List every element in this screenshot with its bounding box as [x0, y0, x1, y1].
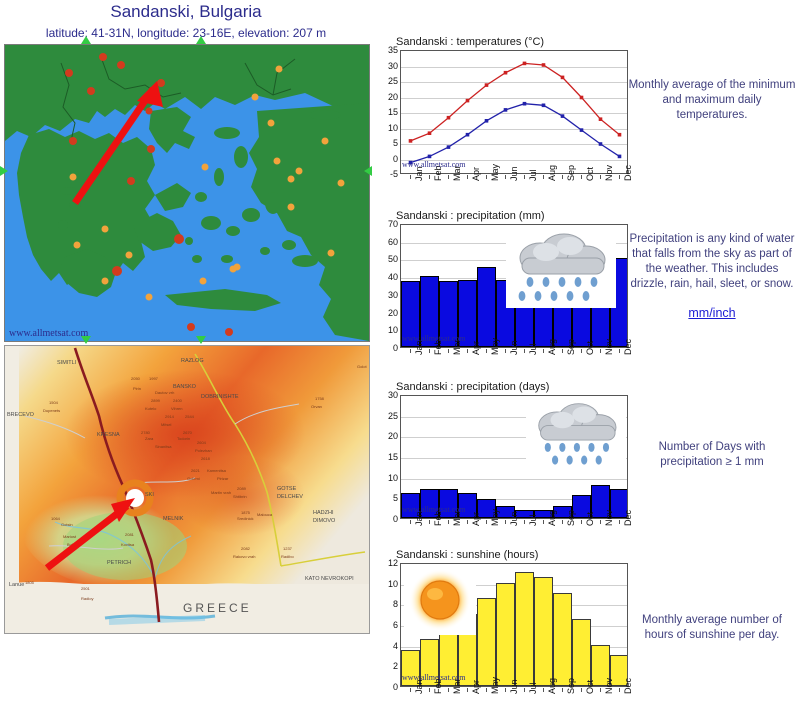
svg-text:2081: 2081 — [125, 532, 135, 537]
svg-text:Pirizar: Pirizar — [217, 476, 229, 481]
x-tick — [467, 688, 468, 692]
svg-text:Sredinick: Sredinick — [237, 516, 253, 521]
data-point — [580, 128, 584, 132]
y-tick-label: 15 — [378, 108, 398, 116]
description-temperatures: Monthly average of the minimum and maxim… — [628, 78, 796, 123]
x-tick — [543, 349, 544, 353]
x-tick — [486, 349, 487, 353]
x-tick-label: Jun — [509, 511, 519, 526]
y-tick-label: 2 — [378, 662, 398, 670]
x-tick-label: May — [490, 509, 500, 526]
series-line-maximum — [411, 63, 620, 140]
gridline — [401, 437, 627, 438]
y-tick-label: 30 — [378, 62, 398, 70]
x-tick — [467, 520, 468, 524]
svg-text:Polezhan: Polezhan — [195, 448, 212, 453]
bar — [553, 593, 572, 686]
x-tick — [562, 175, 563, 179]
x-tick — [486, 520, 487, 524]
x-tick — [486, 688, 487, 692]
chart-sunshine: Sandanski : sunshine (hours) 024681012 J… — [378, 549, 628, 723]
x-tick-label: Dec — [623, 678, 633, 694]
topographic-map[interactable]: SIMITLI RAZLOG BANSKO DOBRINISHTE KRESNA… — [4, 345, 370, 634]
x-tick — [543, 520, 544, 524]
y-tick-label: 5 — [378, 494, 398, 502]
y-tick-label: 20 — [378, 93, 398, 101]
svg-text:Rakovo vrah: Rakovo vrah — [233, 554, 255, 559]
svg-text:Mitsel: Mitsel — [161, 422, 172, 427]
x-tick — [467, 349, 468, 353]
x-tick — [619, 688, 620, 692]
x-tick-label: Aug — [547, 678, 557, 694]
climate-page: Sandanski, Bulgaria latitude: 41-31N, lo… — [0, 0, 800, 713]
svg-text:GOTSE: GOTSE — [277, 486, 297, 492]
x-tick-label: Nov — [604, 510, 614, 526]
gridline — [401, 479, 627, 480]
svg-text:Gotsin: Gotsin — [61, 522, 73, 527]
x-tick-label: Aug — [547, 339, 557, 355]
chart-watermark: www.allmetsat.com — [402, 673, 465, 722]
x-tick — [486, 175, 487, 179]
bar — [496, 280, 515, 347]
x-tick-label: Jun — [509, 166, 519, 181]
x-tick-label: Sep — [566, 339, 576, 355]
y-tick-label: 60 — [378, 238, 398, 246]
plot-area-temperatures — [400, 50, 628, 174]
svg-text:KRESNA: KRESNA — [97, 432, 120, 438]
svg-text:Kutelo: Kutelo — [145, 406, 157, 411]
bar — [515, 572, 534, 686]
nav-left-icon — [0, 166, 8, 176]
x-tick-label: Nov — [604, 165, 614, 181]
chart-watermark: www.allmetsat.com — [402, 160, 465, 209]
svg-text:2050: 2050 — [131, 376, 141, 381]
x-tick-label: Jul — [528, 343, 538, 355]
y-tick-label: 35 — [378, 46, 398, 54]
y-tick-label: 0 — [378, 344, 398, 352]
y-tick-label: 70 — [378, 220, 398, 228]
x-tick-label: Jul — [528, 514, 538, 526]
svg-text:DELCHEV: DELCHEV — [277, 494, 303, 500]
svg-text:Mariost: Mariost — [63, 534, 77, 539]
nav-up-icon — [81, 36, 91, 44]
svg-text:DIMOVO: DIMOVO — [313, 518, 336, 524]
x-tick — [467, 175, 468, 179]
x-tick — [600, 688, 601, 692]
y-tick-label: 25 — [378, 77, 398, 85]
svg-text:1875: 1875 — [241, 510, 251, 515]
svg-text:Vihren: Vihren — [171, 406, 183, 411]
x-tick — [562, 349, 563, 353]
y-tick-label: 10 — [378, 326, 398, 334]
map-nav-markers[interactable] — [0, 36, 372, 348]
description-precipitation-days: Number of Days with precipitation ≥ 1 mm — [628, 440, 796, 470]
x-tick — [524, 688, 525, 692]
y-tick-label: 10 — [378, 124, 398, 132]
svg-text:Golemi: Golemi — [187, 476, 200, 481]
x-tick-label: Nov — [604, 339, 614, 355]
data-point — [523, 62, 527, 66]
bar — [515, 294, 534, 347]
y-tick-label: 40 — [378, 273, 398, 281]
svg-text:1504: 1504 — [49, 400, 59, 405]
svg-text:2604: 2604 — [197, 440, 207, 445]
series-line-minimum — [411, 104, 620, 163]
nav-down-icon — [81, 336, 91, 344]
topographic-map-graphic: SIMITLI RAZLOG BANSKO DOBRINISHTE KRESNA… — [5, 346, 369, 633]
svg-text:Zara: Zara — [145, 436, 154, 441]
description-precipitation-text: Precipitation is any kind of water that … — [630, 233, 795, 290]
data-point — [428, 131, 432, 135]
svg-text:Malouca: Malouca — [257, 512, 273, 517]
data-point — [561, 114, 565, 118]
svg-text:GREECE: GREECE — [183, 601, 252, 615]
svg-text:Sinanitsa: Sinanitsa — [155, 444, 172, 449]
y-tick-label: 20 — [378, 432, 398, 440]
x-tick-label: Sep — [566, 678, 576, 694]
plot-area-precipitation-days — [400, 395, 628, 519]
svg-text:2544: 2544 — [185, 414, 195, 419]
y-tick-label: 50 — [378, 255, 398, 263]
x-tick — [581, 175, 582, 179]
x-tick — [600, 520, 601, 524]
data-point — [599, 117, 603, 121]
x-tick-label: Apr — [471, 167, 481, 181]
y-tick-label: 30 — [378, 391, 398, 399]
chart-watermark: www.allmetsat.com — [402, 334, 465, 383]
x-tick-label: Dec — [623, 510, 633, 526]
bar — [496, 583, 515, 686]
data-point — [523, 102, 527, 106]
svg-text:MELNIK: MELNIK — [163, 516, 184, 522]
data-point — [428, 155, 432, 159]
nav-down-icon — [196, 336, 206, 344]
y-tick-label: -5 — [378, 170, 398, 178]
svg-text:Todorin: Todorin — [177, 436, 190, 441]
bar — [477, 267, 496, 347]
x-tick — [505, 520, 506, 524]
svg-text:2899: 2899 — [151, 398, 161, 403]
plot-area-sunshine — [400, 563, 628, 687]
svg-text:RAZLOG: RAZLOG — [181, 358, 204, 364]
y-tick-label: 6 — [378, 621, 398, 629]
svg-text:Kovitsa: Kovitsa — [121, 542, 135, 547]
x-tick-label: Sep — [566, 165, 576, 181]
x-tick-label: Oct — [585, 512, 595, 526]
svg-text:2082: 2082 — [241, 546, 251, 551]
y-tick-label: 5 — [378, 139, 398, 147]
y-tick-label: 15 — [378, 453, 398, 461]
svg-text:SIMITLI: SIMITLI — [57, 360, 77, 366]
data-point — [485, 119, 489, 123]
chart-watermark: www.allmetsat.com — [402, 505, 465, 554]
chart-title-temperatures: Sandanski : temperatures (°C) — [396, 36, 628, 48]
svg-text:1997: 1997 — [149, 376, 159, 381]
data-point — [542, 63, 546, 67]
y-tick-label: 10 — [378, 474, 398, 482]
chart-title-precipitation-days: Sandanski : precipitation (days) — [396, 381, 628, 393]
svg-text:Orvan: Orvan — [311, 404, 322, 409]
x-tick-label: Oct — [585, 680, 595, 694]
y-tick-label: 30 — [378, 291, 398, 299]
data-point — [409, 139, 413, 143]
x-tick — [581, 520, 582, 524]
svg-text:Radioy: Radioy — [81, 596, 93, 601]
description-precipitation: Precipitation is any kind of water that … — [628, 232, 796, 321]
y-tick-label: 0 — [378, 515, 398, 523]
svg-text:2670: 2670 — [183, 430, 193, 435]
data-point — [447, 116, 451, 120]
y-tick-label: 8 — [378, 600, 398, 608]
svg-text:1758: 1758 — [315, 396, 325, 401]
svg-text:DOBRINISHTE: DOBRINISHTE — [201, 394, 239, 400]
x-tick-label: Apr — [471, 341, 481, 355]
svg-text:1064: 1064 — [51, 516, 61, 521]
x-tick — [619, 520, 620, 524]
y-tick-label: 4 — [378, 642, 398, 650]
chart-title-sunshine: Sandanski : sunshine (hours) — [396, 549, 628, 561]
svg-text:Martin vrah: Martin vrah — [211, 490, 231, 495]
chart-precipitation-days: Sandanski : precipitation (days) 0510152… — [378, 381, 628, 555]
data-point — [618, 155, 622, 159]
bar — [610, 258, 628, 347]
x-tick — [524, 520, 525, 524]
data-point — [447, 145, 451, 149]
data-point — [466, 133, 470, 137]
x-tick-label: Jun — [509, 679, 519, 694]
x-tick-label: Jul — [528, 169, 538, 181]
svg-text:Dupenets: Dupenets — [43, 408, 60, 413]
description-sunshine: Monthly average number of hours of sunsh… — [628, 613, 796, 643]
x-tick-label: May — [490, 338, 500, 355]
svg-text:PETRICH: PETRICH — [107, 560, 131, 566]
svg-text:2501: 2501 — [81, 586, 91, 591]
x-tick — [619, 175, 620, 179]
x-tick-label: Aug — [547, 510, 557, 526]
x-tick-label: Aug — [547, 165, 557, 181]
svg-text:Kamenitsa: Kamenitsa — [207, 468, 227, 473]
svg-text:BANSKO: BANSKO — [173, 384, 197, 390]
x-tick-label: Dec — [623, 339, 633, 355]
x-tick — [562, 520, 563, 524]
x-tick-label: Nov — [604, 678, 614, 694]
x-tick — [524, 175, 525, 179]
x-tick — [505, 688, 506, 692]
bar — [572, 619, 591, 686]
data-point — [542, 104, 546, 108]
chart-precipitation-mm: Sandanski : precipitation (mm) 010203040… — [378, 210, 628, 384]
y-tick-label: 12 — [378, 559, 398, 567]
svg-text:HADZHI: HADZHI — [313, 510, 334, 516]
svg-text:Radibo: Radibo — [281, 554, 294, 559]
svg-text:SKI: SKI — [145, 492, 154, 498]
gridline — [401, 417, 627, 418]
x-tick-label: Oct — [585, 167, 595, 181]
data-point — [485, 83, 489, 87]
x-tick — [562, 688, 563, 692]
x-tick — [581, 349, 582, 353]
x-tick-label: May — [490, 164, 500, 181]
bar — [591, 234, 610, 347]
x-tick-label: Oct — [585, 341, 595, 355]
x-tick — [600, 349, 601, 353]
nav-up-icon — [196, 36, 206, 44]
mm-inch-link[interactable]: mm/inch — [628, 306, 796, 321]
x-tick-label: May — [490, 677, 500, 694]
y-tick-label: 0 — [378, 155, 398, 163]
data-point — [580, 96, 584, 100]
x-tick — [524, 349, 525, 353]
x-tick-label: Dec — [623, 165, 633, 181]
svg-text:2780: 2780 — [141, 430, 151, 435]
x-tick-label: Apr — [471, 680, 481, 694]
svg-text:1805: 1805 — [25, 580, 35, 585]
plot-area-precipitation-mm — [400, 224, 628, 348]
svg-text:KATO NEVROKOPI: KATO NEVROKOPI — [305, 576, 354, 582]
chart-title-precipitation-mm: Sandanski : precipitation (mm) — [396, 210, 628, 222]
y-tick-label: 25 — [378, 412, 398, 420]
series-lines — [401, 51, 628, 174]
svg-text:1237: 1237 — [283, 546, 293, 551]
x-tick-label: Jun — [509, 340, 519, 355]
x-tick — [581, 688, 582, 692]
x-tick-label: Apr — [471, 512, 481, 526]
data-point — [504, 108, 508, 112]
data-point — [618, 133, 622, 137]
data-point — [599, 142, 603, 146]
svg-text:BRECEVO: BRECEVO — [7, 412, 35, 418]
x-tick-label: Jul — [528, 682, 538, 694]
svg-text:2618: 2618 — [201, 456, 211, 461]
svg-text:Golot: Golot — [357, 364, 367, 369]
gridline — [401, 458, 627, 459]
chart-temperatures: Sandanski : temperatures (°C) -505101520… — [378, 36, 628, 210]
x-tick — [600, 175, 601, 179]
svg-text:Lanue: Lanue — [9, 582, 24, 588]
svg-text:2914: 2914 — [165, 414, 175, 419]
svg-text:Pirin: Pirin — [133, 386, 141, 391]
svg-text:2400: 2400 — [173, 398, 183, 403]
bar — [477, 598, 496, 686]
x-tick — [505, 349, 506, 353]
x-tick — [505, 175, 506, 179]
svg-text:2621: 2621 — [191, 468, 201, 473]
svg-text:Shtibrin: Shtibrin — [233, 494, 247, 499]
data-point — [504, 71, 508, 75]
x-tick-label: Sep — [566, 510, 576, 526]
x-tick — [619, 349, 620, 353]
page-title: Sandanski, Bulgaria — [0, 2, 372, 22]
y-tick-label: 10 — [378, 580, 398, 588]
svg-text:Dautov vrh: Dautov vrh — [155, 390, 174, 395]
x-tick — [543, 688, 544, 692]
bar — [534, 577, 553, 686]
y-tick-label: 20 — [378, 309, 398, 317]
data-point — [466, 99, 470, 103]
bar — [572, 285, 591, 347]
y-tick-label: 0 — [378, 683, 398, 691]
data-point — [561, 76, 565, 80]
x-tick — [543, 175, 544, 179]
svg-text:2089: 2089 — [237, 486, 247, 491]
nav-right-icon — [364, 166, 372, 176]
